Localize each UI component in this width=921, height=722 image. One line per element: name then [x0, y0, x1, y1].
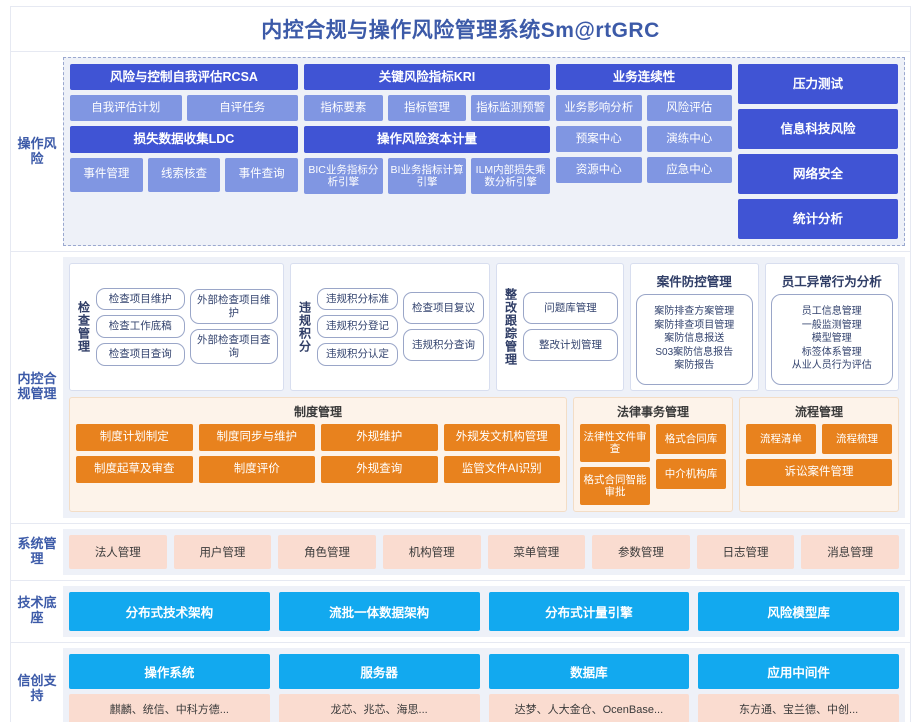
bc-sub-row-2: 预案中心 演练中心 — [556, 126, 732, 152]
xinchuang-col-server: 服务器 龙芯、兆芯、海思... — [279, 654, 480, 722]
menu-item-plan-center[interactable]: 预案中心 — [556, 126, 642, 152]
band-internal-control: 内控合规管理 检查管理 检查项目维护 检查工作底稿 检查项目查询 外部检查项目维… — [10, 252, 911, 524]
menu-item-role-management[interactable]: 角色管理 — [278, 535, 376, 569]
module-header-business-continuity[interactable]: 业务连续性 — [556, 64, 732, 90]
band-label-xinchuang-support-text: 信创支持 — [13, 674, 61, 704]
menu-item-external-inspection-maintenance[interactable]: 外部检查项目维护 — [190, 289, 279, 324]
process-col-2: 流程梳理 — [822, 424, 892, 454]
menu-item-employee-info-management[interactable]: 员工信息管理 — [802, 306, 862, 319]
module-header-kri[interactable]: 关键风险指标KRI — [304, 64, 550, 90]
menu-item-log-management[interactable]: 日志管理 — [697, 535, 795, 569]
menu-item-parameter-management[interactable]: 参数管理 — [592, 535, 690, 569]
policy-col-2: 制度同步与维护 制度评价 — [199, 424, 316, 483]
page-title: 内控合规与操作风险管理系统Sm@rtGRC — [261, 14, 660, 44]
band-label-tech-base-text: 技术底座 — [13, 596, 61, 626]
menu-item-indicator-monitoring-alert[interactable]: 指标监测预警 — [471, 95, 550, 121]
menu-item-policy-evaluation[interactable]: 制度评价 — [199, 456, 316, 483]
system-management-row: 法人管理 用户管理 角色管理 机构管理 菜单管理 参数管理 日志管理 消息管理 — [69, 535, 899, 569]
card-rectification-tracking: 整改跟踪管理 问题库管理 整改计划管理 — [496, 263, 624, 391]
menu-item-violation-points-registration[interactable]: 违规积分登记 — [317, 315, 398, 338]
internal-control-row-1: 检查管理 检查项目维护 检查工作底稿 检查项目查询 外部检查项目维护 外部检查项… — [69, 263, 899, 391]
vendor-list-database: 达梦、人大金仓、OcenBase... — [489, 694, 690, 722]
band-label-system-management: 系统管理 — [11, 524, 63, 580]
band-body-system-management: 法人管理 用户管理 角色管理 机构管理 菜单管理 参数管理 日志管理 消息管理 — [63, 529, 905, 575]
band-label-system-management-text: 系统管理 — [13, 537, 61, 567]
module-it-risk[interactable]: 信息科技风险 — [738, 109, 898, 149]
band-body-operation-risk: 风险与控制自我评估RCSA 自我评估计划 自评任务 损失数据收集LDC 事件管理… — [63, 57, 905, 246]
menu-item-general-monitoring-management[interactable]: 一般监测管理 — [802, 320, 862, 333]
menu-item-clue-verification[interactable]: 线索核查 — [148, 158, 221, 192]
module-header-rcsa[interactable]: 风险与控制自我评估RCSA — [70, 64, 298, 90]
risk-column-rcsa: 风险与控制自我评估RCSA 自我评估计划 自评任务 损失数据收集LDC 事件管理… — [70, 64, 298, 239]
band-xinchuang-support: 信创支持 操作系统 麒麟、统信、中科方德... 服务器 龙芯、兆芯、海思... … — [10, 643, 911, 722]
band-system-management: 系统管理 法人管理 用户管理 角色管理 机构管理 菜单管理 参数管理 日志管理 … — [10, 524, 911, 581]
menu-item-violation-points-standard[interactable]: 违规积分标准 — [317, 288, 398, 311]
module-server[interactable]: 服务器 — [279, 654, 480, 689]
process-col-1: 流程清单 — [746, 424, 816, 454]
menu-item-intermediary-agency-library[interactable]: 中介机构库 — [656, 459, 726, 489]
menu-item-inspection-item-review[interactable]: 检查项目复议 — [403, 292, 484, 324]
policy-management-grid: 制度计划制定 制度起草及审查 制度同步与维护 制度评价 外规维护 外规查询 — [76, 424, 560, 483]
rcsa-sub-row: 自我评估计划 自评任务 — [70, 95, 298, 121]
bc-sub-row-1: 业务影响分析 风险评估 — [556, 95, 732, 121]
menu-item-event-query[interactable]: 事件查询 — [225, 158, 298, 192]
case-prevention-list[interactable]: 案防排查方案管理 案防排查项目管理 案防信息报送 S03案防信息报告 案防报告 — [636, 294, 753, 385]
module-stream-batch-data-architecture[interactable]: 流批一体数据架构 — [279, 592, 480, 631]
band-label-operation-risk: 操作风险 — [11, 52, 63, 251]
card-title-legal-affairs: 法律事务管理 — [580, 402, 726, 424]
menu-item-event-management[interactable]: 事件管理 — [70, 158, 143, 192]
band-label-tech-base: 技术底座 — [11, 581, 63, 642]
menu-item-risk-assessment[interactable]: 风险评估 — [647, 95, 733, 121]
band-label-internal-control-text: 内控合规管理 — [13, 372, 61, 402]
menu-item-bic-engine[interactable]: BIC业务指标分析引擎 — [304, 158, 383, 194]
xinchuang-col-database: 数据库 达梦、人大金仓、OcenBase... — [489, 654, 690, 722]
menu-item-rectification-plan-management[interactable]: 整改计划管理 — [523, 329, 618, 361]
module-distributed-measurement-engine[interactable]: 分布式计量引擎 — [489, 592, 690, 631]
menu-item-tag-system-management[interactable]: 标签体系管理 — [802, 347, 862, 360]
legal-col-1: 法律性文件审查 格式合同智能审批 — [580, 424, 650, 505]
inspection-col-1: 检查项目维护 检查工作底稿 检查项目查询 — [96, 269, 185, 385]
ldc-sub-row: 事件管理 线索核查 事件查询 — [70, 158, 298, 192]
employee-behavior-list[interactable]: 员工信息管理 一般监测管理 模型管理 标签体系管理 从业人员行为评估 — [771, 294, 894, 385]
inspection-pill-columns: 检查项目维护 检查工作底稿 检查项目查询 外部检查项目维护 外部检查项目查询 — [96, 269, 278, 385]
violation-col-2: 检查项目复议 违规积分查询 — [403, 269, 484, 385]
menu-item-violation-points-determination[interactable]: 违规积分认定 — [317, 343, 398, 366]
module-risk-model-library[interactable]: 风险模型库 — [698, 592, 899, 631]
menu-item-external-rule-query[interactable]: 外规查询 — [321, 456, 438, 483]
legal-affairs-grid: 法律性文件审查 格式合同智能审批 格式合同库 中介机构库 — [580, 424, 726, 505]
kri-sub-row: 指标要素 指标管理 指标监测预警 — [304, 95, 550, 121]
card-title-process-management: 流程管理 — [746, 402, 892, 424]
menu-item-resource-center[interactable]: 资源中心 — [556, 157, 642, 183]
card-label-rectification-tracking: 整改跟踪管理 — [502, 269, 519, 385]
menu-item-ilm-engine[interactable]: ILM内部损失乘数分析引擎 — [471, 158, 550, 194]
policy-col-1: 制度计划制定 制度起草及审查 — [76, 424, 193, 483]
card-title-policy-management: 制度管理 — [76, 402, 560, 424]
card-label-inspection-management: 检查管理 — [75, 269, 92, 385]
menu-item-regulatory-doc-ai-recognition[interactable]: 监管文件AI识别 — [444, 456, 561, 483]
risk-column-business-continuity: 业务连续性 业务影响分析 风险评估 预案中心 演练中心 资源中心 应急中心 — [556, 64, 732, 239]
menu-item-policy-plan-formulation[interactable]: 制度计划制定 — [76, 424, 193, 451]
page-title-bar: 内控合规与操作风险管理系统Sm@rtGRC — [10, 6, 911, 51]
band-operation-risk: 操作风险 风险与控制自我评估RCSA 自我评估计划 自评任务 损失数据收集LDC… — [10, 51, 911, 252]
vendor-list-operating-system: 麒麟、统信、中科方德... — [69, 694, 270, 722]
band-body-xinchuang-support: 操作系统 麒麟、统信、中科方德... 服务器 龙芯、兆芯、海思... 数据库 达… — [63, 648, 905, 722]
menu-item-drill-center[interactable]: 演练中心 — [647, 126, 733, 152]
module-header-ldc[interactable]: 损失数据收集LDC — [70, 126, 298, 152]
menu-item-message-management[interactable]: 消息管理 — [801, 535, 899, 569]
xinchuang-row: 操作系统 麒麟、统信、中科方德... 服务器 龙芯、兆芯、海思... 数据库 达… — [69, 654, 899, 722]
module-stress-testing[interactable]: 压力测试 — [738, 64, 898, 104]
violation-pill-columns: 违规积分标准 违规积分登记 违规积分认定 检查项目复议 违规积分查询 — [317, 269, 484, 385]
menu-item-litigation-case-management[interactable]: 诉讼案件管理 — [746, 459, 892, 486]
card-title-employee-behavior: 员工异常行为分析 — [771, 269, 894, 294]
xinchuang-col-os: 操作系统 麒麟、统信、中科方德... — [69, 654, 270, 722]
card-legal-affairs: 法律事务管理 法律性文件审查 格式合同智能审批 格式合同库 中介机构库 — [573, 397, 733, 512]
module-operating-system[interactable]: 操作系统 — [69, 654, 270, 689]
card-title-case-prevention: 案件防控管理 — [636, 269, 753, 294]
menu-item-emergency-center[interactable]: 应急中心 — [647, 157, 733, 183]
menu-item-inspection-item-maintenance[interactable]: 检查项目维护 — [96, 288, 185, 311]
menu-item-inspection-item-query[interactable]: 检查项目查询 — [96, 343, 185, 366]
module-application-middleware[interactable]: 应用中间件 — [698, 654, 899, 689]
band-label-operation-risk-text: 操作风险 — [13, 137, 61, 167]
menu-item-self-assessment-plan[interactable]: 自我评估计划 — [70, 95, 182, 121]
band-body-tech-base: 分布式技术架构 流批一体数据架构 分布式计量引擎 风险模型库 — [63, 586, 905, 637]
menu-item-case-plan-management[interactable]: 案防排查方案管理 — [654, 306, 734, 319]
vendor-list-server: 龙芯、兆芯、海思... — [279, 694, 480, 722]
card-process-management: 流程管理 流程清单 流程梳理 诉讼案件管理 — [739, 397, 899, 512]
menu-item-case-info-submission[interactable]: 案防信息报送 — [664, 333, 724, 346]
menu-item-standard-contract-library[interactable]: 格式合同库 — [656, 424, 726, 454]
architecture-diagram-page: 内控合规与操作风险管理系统Sm@rtGRC 操作风险 风险与控制自我评估RCSA… — [0, 0, 921, 640]
risk-column-others: 压力测试 信息科技风险 网络安全 统计分析 — [738, 64, 898, 239]
band-label-internal-control: 内控合规管理 — [11, 252, 63, 523]
module-distributed-tech-architecture[interactable]: 分布式技术架构 — [69, 592, 270, 631]
band-label-xinchuang-support: 信创支持 — [11, 643, 63, 722]
menu-item-practitioner-behavior-assessment[interactable]: 从业人员行为评估 — [792, 360, 872, 373]
risk-column-kri: 关键风险指标KRI 指标要素 指标管理 指标监测预警 操作风险资本计量 BIC业… — [304, 64, 550, 239]
xinchuang-col-middleware: 应用中间件 东方通、宝兰德、中创... — [698, 654, 899, 722]
legal-col-2: 格式合同库 中介机构库 — [656, 424, 726, 505]
menu-item-policy-drafting-review[interactable]: 制度起草及审查 — [76, 456, 193, 483]
card-policy-management: 制度管理 制度计划制定 制度起草及审查 制度同步与维护 制度评价 外规维护 外规 — [69, 397, 567, 512]
policy-col-4: 外规发文机构管理 监管文件AI识别 — [444, 424, 561, 483]
rectification-pill-columns: 问题库管理 整改计划管理 — [523, 269, 618, 385]
menu-item-self-assessment-task[interactable]: 自评任务 — [187, 95, 299, 121]
rectification-col-1: 问题库管理 整改计划管理 — [523, 269, 618, 385]
operation-risk-grid: 风险与控制自我评估RCSA 自我评估计划 自评任务 损失数据收集LDC 事件管理… — [70, 64, 898, 239]
menu-item-bi-engine[interactable]: BI业务指标计算引擎 — [388, 158, 467, 194]
menu-item-violation-points-query[interactable]: 违规积分查询 — [403, 329, 484, 361]
menu-item-menu-management[interactable]: 菜单管理 — [488, 535, 586, 569]
menu-item-standard-contract-smart-approval[interactable]: 格式合同智能审批 — [580, 467, 650, 505]
menu-item-org-management[interactable]: 机构管理 — [383, 535, 481, 569]
menu-item-external-inspection-query[interactable]: 外部检查项目查询 — [190, 329, 279, 364]
menu-item-process-list[interactable]: 流程清单 — [746, 424, 816, 454]
menu-item-user-management[interactable]: 用户管理 — [174, 535, 272, 569]
tech-base-row: 分布式技术架构 流批一体数据架构 分布式计量引擎 风险模型库 — [69, 592, 899, 631]
internal-control-row-2: 制度管理 制度计划制定 制度起草及审查 制度同步与维护 制度评价 外规维护 外规 — [69, 397, 899, 512]
policy-col-3: 外规维护 外规查询 — [321, 424, 438, 483]
inspection-col-2: 外部检查项目维护 外部检查项目查询 — [190, 269, 279, 385]
menu-item-external-rule-maintenance[interactable]: 外规维护 — [321, 424, 438, 451]
menu-item-case-report[interactable]: 案防报告 — [674, 360, 714, 373]
module-statistical-analysis[interactable]: 统计分析 — [738, 199, 898, 239]
band-tech-base: 技术底座 分布式技术架构 流批一体数据架构 分布式计量引擎 风险模型库 — [10, 581, 911, 643]
vendor-list-middleware: 东方通、宝兰德、中创... — [698, 694, 899, 722]
violation-col-1: 违规积分标准 违规积分登记 违规积分认定 — [317, 269, 398, 385]
card-label-violation-points: 违规积分 — [296, 269, 313, 385]
capital-sub-row: BIC业务指标分析引擎 BI业务指标计算引擎 ILM内部损失乘数分析引擎 — [304, 158, 550, 194]
card-inspection-management: 检查管理 检查项目维护 检查工作底稿 检查项目查询 外部检查项目维护 外部检查项… — [69, 263, 284, 391]
menu-item-indicator-management[interactable]: 指标管理 — [388, 95, 467, 121]
menu-item-indicator-elements[interactable]: 指标要素 — [304, 95, 383, 121]
process-management-grid: 流程清单 流程梳理 — [746, 424, 892, 454]
card-employee-behavior-analysis: 员工异常行为分析 员工信息管理 一般监测管理 模型管理 标签体系管理 从业人员行… — [765, 263, 900, 391]
menu-item-process-combing[interactable]: 流程梳理 — [822, 424, 892, 454]
menu-item-inspection-workpaper[interactable]: 检查工作底稿 — [96, 315, 185, 338]
menu-item-business-impact-analysis[interactable]: 业务影响分析 — [556, 95, 642, 121]
menu-item-legal-entity-management[interactable]: 法人管理 — [69, 535, 167, 569]
menu-item-case-project-management[interactable]: 案防排查项目管理 — [654, 320, 734, 333]
menu-item-legal-document-review[interactable]: 法律性文件审查 — [580, 424, 650, 462]
menu-item-external-rule-issuing-org-management[interactable]: 外规发文机构管理 — [444, 424, 561, 451]
bc-sub-row-3: 资源中心 应急中心 — [556, 157, 732, 183]
menu-item-policy-sync-maintenance[interactable]: 制度同步与维护 — [199, 424, 316, 451]
card-violation-points: 违规积分 违规积分标准 违规积分登记 违规积分认定 检查项目复议 违规积分查询 — [290, 263, 490, 391]
card-case-prevention: 案件防控管理 案防排查方案管理 案防排查项目管理 案防信息报送 S03案防信息报… — [630, 263, 759, 391]
band-body-internal-control: 检查管理 检查项目维护 检查工作底稿 检查项目查询 外部检查项目维护 外部检查项… — [63, 257, 905, 518]
module-network-security[interactable]: 网络安全 — [738, 154, 898, 194]
menu-item-s03-case-info-report[interactable]: S03案防信息报告 — [655, 347, 733, 360]
module-database[interactable]: 数据库 — [489, 654, 690, 689]
menu-item-model-management[interactable]: 模型管理 — [812, 333, 852, 346]
menu-item-issue-library-management[interactable]: 问题库管理 — [523, 292, 618, 324]
module-header-op-risk-capital[interactable]: 操作风险资本计量 — [304, 126, 550, 152]
